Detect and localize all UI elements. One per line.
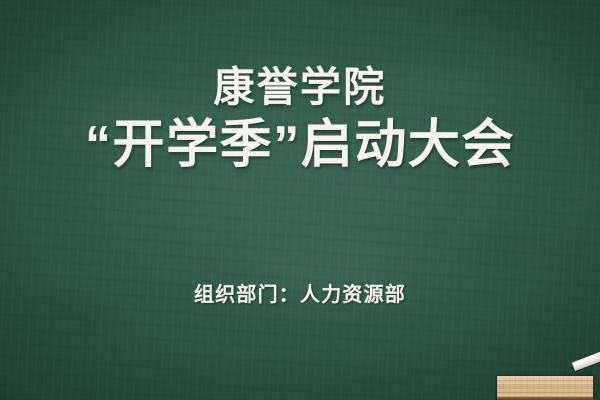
- subtitle-organizing-department: 组织部门：人力资源部: [0, 278, 600, 307]
- text-layer: 康誉学院 “开学季”启动大会 组织部门：人力资源部: [0, 0, 600, 400]
- chalkboard-slide: 康誉学院 “开学季”启动大会 组织部门：人力资源部: [0, 0, 600, 400]
- chalk-ledge: [497, 376, 593, 400]
- page-title: 康誉学院 “开学季”启动大会: [0, 62, 600, 178]
- title-line-1: 康誉学院: [0, 62, 600, 112]
- title-line-2: “开学季”启动大会: [0, 112, 600, 178]
